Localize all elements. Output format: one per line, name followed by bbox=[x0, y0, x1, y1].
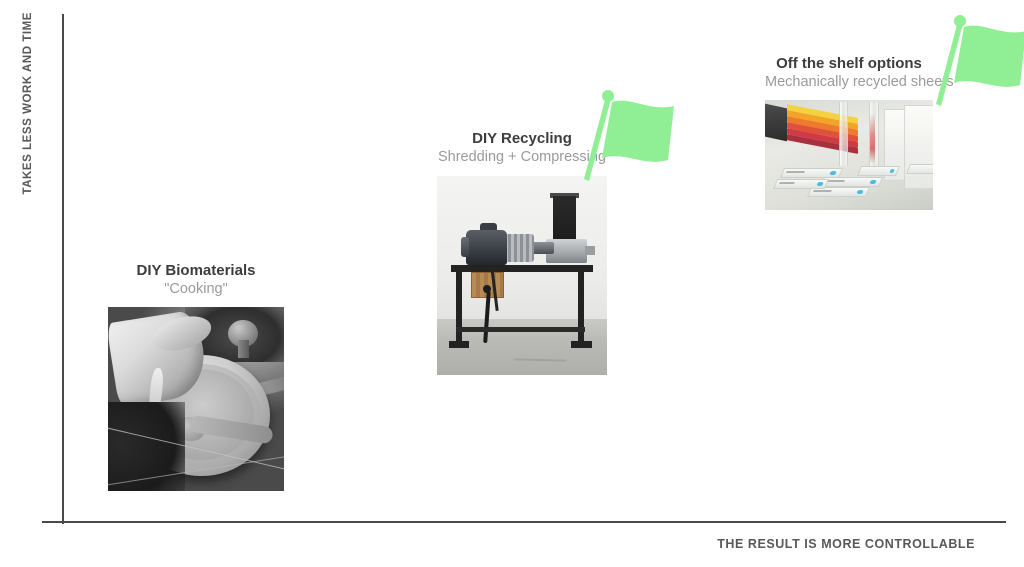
table-leg-right bbox=[578, 269, 584, 343]
item-caption: DIY Biomaterials "Cooking" bbox=[108, 262, 284, 298]
item-photo-off-the-shelf-options[interactable] bbox=[765, 100, 933, 210]
table-top bbox=[451, 265, 594, 272]
item-caption: Off the shelf options Mechanically recyc… bbox=[765, 55, 933, 91]
table-foot-right bbox=[571, 341, 591, 348]
table-rail bbox=[456, 327, 585, 332]
slide-dot bbox=[869, 180, 877, 184]
frosted-panel-2 bbox=[904, 105, 933, 188]
clear-sheet-1 bbox=[839, 102, 849, 166]
item-off-the-shelf-options[interactable]: Off the shelf options Mechanically recyc… bbox=[765, 55, 933, 210]
y-axis-line bbox=[62, 14, 64, 524]
item-title: DIY Biomaterials bbox=[108, 262, 284, 280]
slide-label-text bbox=[827, 180, 845, 182]
slide-label-text bbox=[786, 171, 804, 173]
table-leg-left bbox=[456, 269, 462, 343]
slide-dot bbox=[856, 190, 864, 194]
item-diy-recycling[interactable]: DIY Recycling Shredding + Compressing bbox=[437, 130, 607, 375]
slide-dot bbox=[817, 182, 824, 186]
item-subtitle: Shredding + Compressing bbox=[437, 149, 607, 166]
extruder-nozzle bbox=[585, 246, 595, 255]
item-subtitle: Mechanically recycled sheets bbox=[765, 74, 933, 91]
item-title: DIY Recycling bbox=[437, 130, 607, 148]
slide-dot bbox=[890, 169, 896, 173]
slide-canvas: TAKES LESS WORK AND TIME THE RESULT IS M… bbox=[0, 0, 1024, 567]
red-streak-sheet bbox=[870, 113, 875, 164]
dark-sheet-edge bbox=[765, 104, 787, 142]
item-subtitle: "Cooking" bbox=[108, 281, 284, 298]
drive-shaft bbox=[532, 242, 554, 254]
x-axis-label: THE RESULT IS MORE CONTROLLABLE bbox=[505, 537, 975, 551]
sample-slide-4 bbox=[773, 179, 830, 189]
item-title: Off the shelf options bbox=[765, 55, 933, 73]
sample-slide-5 bbox=[857, 166, 900, 176]
y-axis-label: TAKES LESS WORK AND TIME bbox=[22, 12, 34, 212]
electric-motor bbox=[466, 230, 507, 266]
slide-dot bbox=[829, 171, 837, 175]
flag-off-the-shelf bbox=[928, 13, 1024, 113]
flag-icon bbox=[928, 13, 1024, 113]
stove-knob-stem bbox=[238, 340, 249, 358]
item-photo-diy-recycling[interactable] bbox=[437, 176, 607, 375]
item-diy-biomaterials[interactable]: DIY Biomaterials "Cooking" bbox=[108, 262, 284, 491]
motor-nose bbox=[461, 237, 470, 257]
sample-slide-6 bbox=[906, 164, 933, 174]
table-foot-left bbox=[449, 341, 469, 348]
item-caption: DIY Recycling Shredding + Compressing bbox=[437, 130, 607, 166]
slide-label-text bbox=[779, 182, 795, 184]
gearbox-coupler bbox=[505, 234, 534, 263]
item-photo-diy-biomaterials[interactable] bbox=[108, 307, 284, 491]
slide-label-text bbox=[813, 190, 831, 192]
x-axis-line bbox=[42, 521, 1006, 523]
